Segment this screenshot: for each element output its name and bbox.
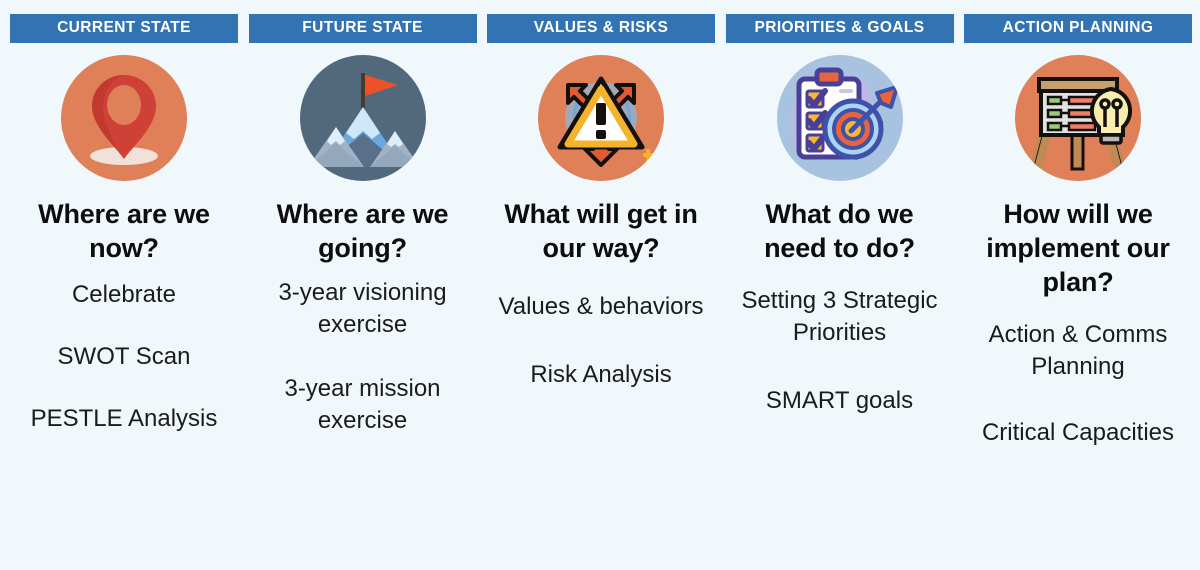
stage-banner-label: CURRENT STATE [10, 20, 238, 36]
clipboard-target-icon [777, 55, 903, 181]
stage-banner-label: VALUES & RISKS [487, 20, 715, 36]
stage-bullets-action-planning: Action & Comms Planning Critical Capacit… [964, 319, 1192, 449]
stage-bullets-values-risks: Values & behaviors Risk Analysis [487, 291, 715, 391]
stage-bullets-current-state: Celebrate SWOT Scan PESTLE Analysis [10, 279, 238, 435]
stage-question-priorities-goals: What do we need to do? [735, 197, 945, 266]
list-item: SWOT Scan [58, 341, 191, 373]
stage-column-priorities-goals: PRIORITIES & GOALS What [726, 14, 954, 570]
stage-banner-label: ACTION PLANNING [964, 20, 1192, 36]
location-pin-icon [61, 55, 187, 181]
warning-triangle-arrows-icon [538, 55, 664, 181]
list-item: Setting 3 Strategic Priorities [737, 285, 942, 349]
list-item: PESTLE Analysis [31, 403, 218, 435]
stage-banner-values-risks: VALUES & RISKS [487, 14, 715, 43]
list-item: Action & Comms Planning [976, 319, 1181, 383]
stage-column-values-risks: VALUES & RISKS What will get in [487, 14, 715, 570]
list-item: Critical Capacities [982, 417, 1174, 449]
stage-bullets-priorities-goals: Setting 3 Strategic Priorities SMART goa… [726, 285, 954, 417]
list-item: 3-year visioning exercise [260, 277, 465, 341]
stage-bullets-future-state: 3-year visioning exercise 3-year mission… [249, 277, 477, 437]
stage-banner-future-state: FUTURE STATE [249, 14, 477, 43]
easel-lightbulb-icon [1015, 55, 1141, 181]
stage-banner-label: FUTURE STATE [249, 20, 477, 36]
stage-column-action-planning: ACTION PLANNING [964, 14, 1192, 570]
stage-column-future-state: FUTURE STATE Where are we going? 3-year … [249, 14, 477, 570]
stage-banner-label: PRIORITIES & GOALS [726, 20, 954, 36]
stage-question-values-risks: What will get in our way? [496, 197, 706, 266]
strategy-process-infographic: CURRENT STATE Where are we now? Celebrat… [0, 0, 1200, 570]
stage-column-current-state: CURRENT STATE Where are we now? Celebrat… [10, 14, 238, 570]
stage-banner-action-planning: ACTION PLANNING [964, 14, 1192, 43]
list-item: Values & behaviors [499, 291, 704, 323]
list-item: Risk Analysis [530, 359, 671, 391]
list-item: SMART goals [766, 385, 913, 417]
stage-question-current-state: Where are we now? [19, 197, 229, 266]
stage-banner-current-state: CURRENT STATE [10, 14, 238, 43]
stage-question-action-planning: How will we implement our plan? [973, 197, 1183, 300]
list-item: Celebrate [72, 279, 176, 311]
mountain-flag-icon [300, 55, 426, 181]
list-item: 3-year mission exercise [260, 373, 465, 437]
stage-question-future-state: Where are we going? [258, 197, 468, 266]
stage-banner-priorities-goals: PRIORITIES & GOALS [726, 14, 954, 43]
